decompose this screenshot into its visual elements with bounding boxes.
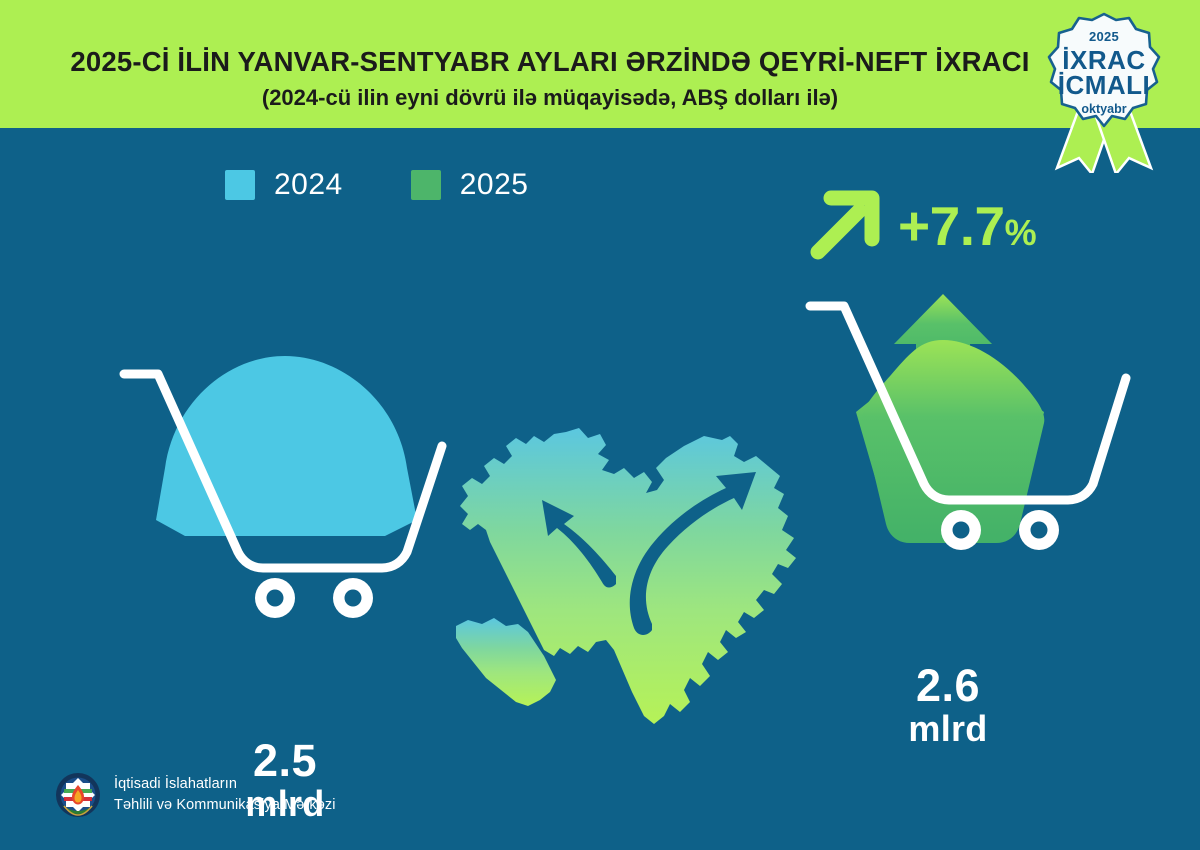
badge-line2: İCMALI [1024,72,1184,98]
legend-item-2024: 2024 [225,168,343,202]
growth-value: +7.7% [898,199,1036,254]
footer-text: İqtisadi İslahatların Təhlili və Kommuni… [114,774,336,815]
badge-month: oktyabr [1024,103,1184,116]
badge-year: 2025 [1024,30,1184,43]
legend-label-2025: 2025 [460,168,529,202]
infographic-canvas: 2025-Cİ İLİN YANVAR-SENTYABR AYLARI ƏRZİ… [0,0,1200,850]
page-title: 2025-Cİ İLİN YANVAR-SENTYABR AYLARI ƏRZİ… [0,46,1100,78]
growth-number: +7.7 [898,195,1005,257]
legend-item-2025: 2025 [411,168,529,202]
footer-line2: Təhlili və Kommunikasiya Mərkəzi [114,795,336,816]
cart-2025-value: 2.6 mlrd [848,663,1048,747]
shopping-cart-icon [848,280,1128,630]
arrow-up-right-icon [806,190,880,262]
page-subtitle: (2024-cü ilin eyni dövrü ilə müqayisədə,… [0,85,1100,111]
legend-swatch-2025 [411,170,441,200]
footer-branding: İqtisadi İslahatların Təhlili və Kommuni… [55,772,336,818]
growth-unit: % [1005,212,1037,253]
azerbaijan-coat-of-arms-icon [55,772,101,818]
cart-2025: 2.6 mlrd [848,280,1128,630]
cart-2025-number: 2.6 [848,663,1048,710]
azerbaijan-map [438,398,848,743]
legend-swatch-2024 [225,170,255,200]
report-badge: 2025 İXRAC İCMALI oktyabr [1024,8,1184,173]
map-icon [438,398,848,743]
cart-2024: 2.5 mlrd [110,340,460,630]
footer-line1: İqtisadi İslahatların [114,774,336,795]
legend-label-2024: 2024 [274,168,343,202]
cart-2025-unit: mlrd [848,710,1048,747]
shopping-cart-icon [110,340,460,630]
chart-legend: 2024 2025 [225,168,529,202]
growth-indicator: +7.7% [806,190,1036,262]
